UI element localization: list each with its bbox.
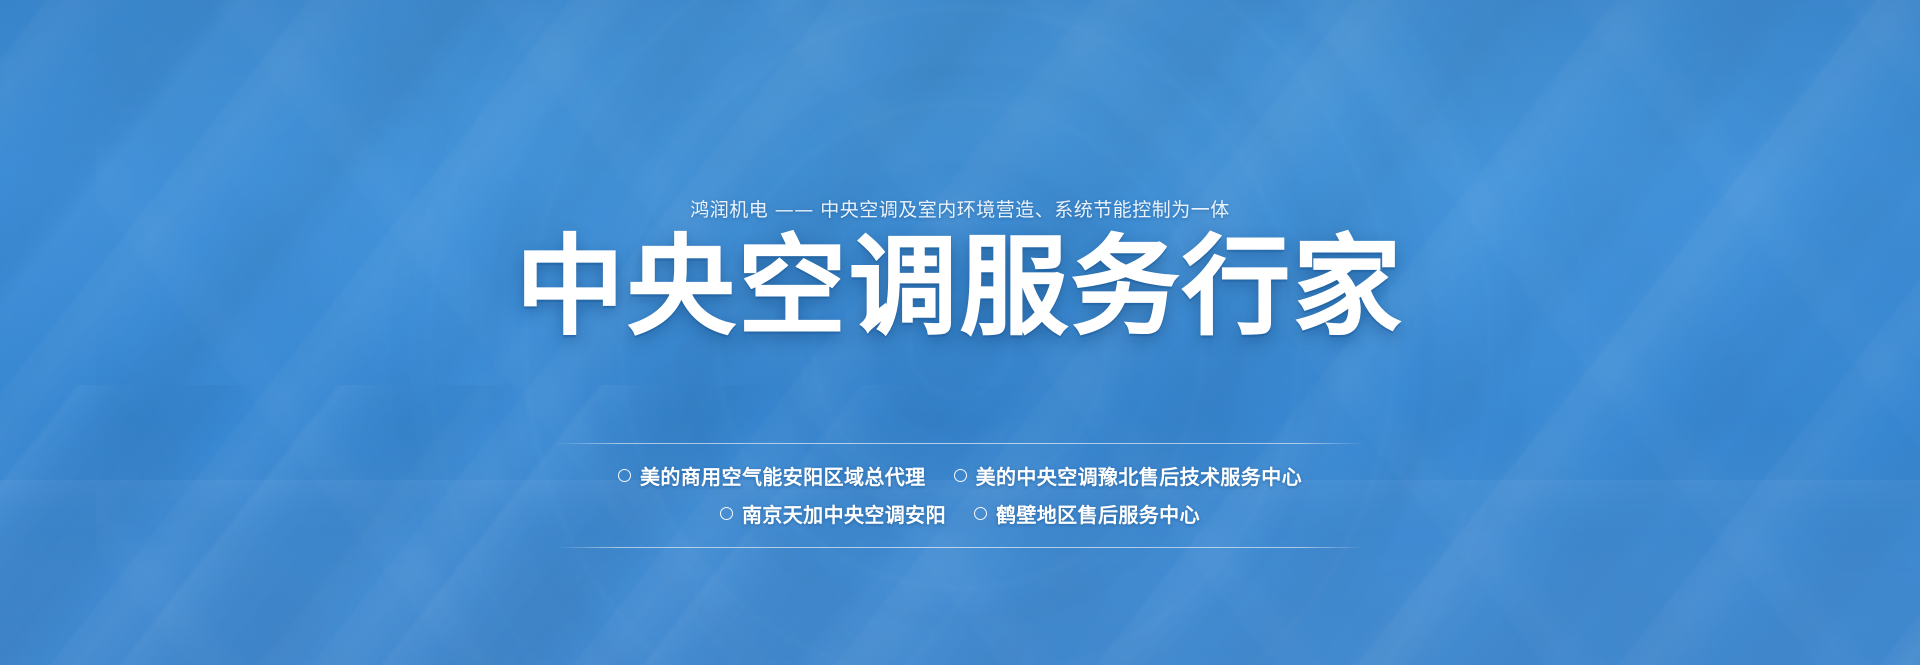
bullet-item: 南京天加中央空调安阳 bbox=[720, 499, 946, 528]
bullet-row: 南京天加中央空调安阳 鹤壁地区售后服务中心 bbox=[720, 499, 1200, 528]
bullet-item-label: 南京天加中央空调安阳 bbox=[742, 499, 946, 528]
bullet-row: 美的商用空气能安阳区域总代理 美的中央空调豫北售后技术服务中心 bbox=[618, 461, 1302, 490]
hero-banner: 鸿润机电 —— 中央空调及室内环境营造、系统节能控制为一体 中央空调服务行家 美… bbox=[0, 0, 1920, 665]
circle-outline-icon bbox=[974, 507, 987, 520]
bullet-item-label: 美的商用空气能安阳区域总代理 bbox=[640, 461, 926, 490]
bullet-item: 鹤壁地区售后服务中心 bbox=[974, 499, 1200, 528]
bullet-item-label: 美的中央空调豫北售后技术服务中心 bbox=[976, 461, 1302, 490]
banner-subtitle: 鸿润机电 —— 中央空调及室内环境营造、系统节能控制为一体 bbox=[690, 198, 1230, 223]
circle-outline-icon bbox=[954, 469, 967, 482]
bullet-item: 美的中央空调豫北售后技术服务中心 bbox=[954, 461, 1302, 490]
banner-headline: 中央空调服务行家 bbox=[516, 229, 1404, 348]
bullet-item-label: 鹤壁地区售后服务中心 bbox=[996, 499, 1200, 528]
bullet-item: 美的商用空气能安阳区域总代理 bbox=[618, 461, 926, 490]
banner-bullet-list: 美的商用空气能安阳区域总代理 美的中央空调豫北售后技术服务中心 南京天加中央空调… bbox=[618, 461, 1302, 528]
banner-content: 鸿润机电 —— 中央空调及室内环境营造、系统节能控制为一体 中央空调服务行家 美… bbox=[0, 0, 1920, 665]
circle-outline-icon bbox=[618, 469, 631, 482]
circle-outline-icon bbox=[720, 507, 733, 520]
divider-top bbox=[555, 443, 1365, 444]
divider-bottom bbox=[555, 547, 1365, 548]
